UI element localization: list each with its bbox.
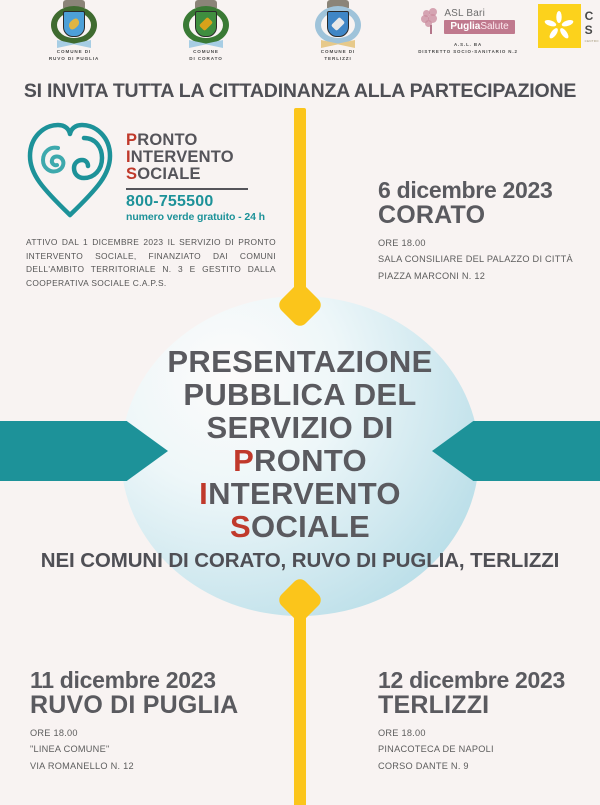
logo-comune-di-corato: COMUNE DI CORATO: [158, 0, 254, 63]
main-title-line-6: SOCIALE: [0, 510, 600, 543]
poster-canvas: COMUNE DI RUVO DI PUGLIA COMUNE DI CORAT…: [0, 0, 600, 805]
logo-caption-line2: RUVO DI PUGLIA: [49, 56, 99, 63]
logo-comune-terlizzi: COMUNE DI TERLIZZI: [290, 0, 386, 63]
brand-rest-intervento: NTERVENTO: [131, 148, 234, 166]
event-card-corato: 6 dicembre 2023 CORATO ORE 18.00 SALA CO…: [378, 178, 573, 284]
event-address: VIA ROMANELLO N. 12: [30, 758, 238, 774]
event-details: ORE 18.00 "LINEA COMUNE" VIA ROMANELLO N…: [30, 725, 238, 773]
service-description: ATTIVO DAL 1 DICEMBRE 2023 IL SERVIZIO D…: [26, 236, 276, 290]
toll-free-number[interactable]: 800-755500: [126, 194, 265, 210]
caps-subtitle: CENTRO AIUTO PSICO SOCIALE: [585, 39, 600, 43]
asl-name: ASL Bari: [444, 8, 514, 19]
tree-icon: [421, 8, 441, 34]
yellow-connector-bottom: [283, 583, 317, 805]
event-address: PIAZZA MARCONI N. 12: [378, 268, 573, 284]
event-time: ORE 18.00: [378, 725, 565, 741]
brand-line-sociale: SOCIALE: [126, 166, 265, 183]
brand-initial-s: S: [126, 165, 137, 183]
event-time: ORE 18.00: [378, 235, 573, 251]
event-date: 12 dicembre 2023: [378, 668, 565, 692]
asl-bari-logo: ASL Bari PugliaSalute: [421, 8, 514, 34]
event-venue: PINACOTECA DE NAPOLI: [378, 741, 565, 757]
brand-initial-p: P: [126, 131, 137, 149]
flower-icon: [544, 11, 574, 41]
pis-logo-icon: [24, 118, 116, 218]
yellow-stem: [294, 611, 306, 805]
event-details: ORE 18.00 SALA CONSILIARE DEL PALAZZO DI…: [378, 235, 573, 283]
logo-caption-line1: COMUNE: [189, 49, 222, 56]
main-title: PRESENTAZIONE PUBBLICA DEL SERVIZIO DI P…: [0, 345, 600, 543]
event-date: 11 dicembre 2023: [30, 668, 238, 692]
logo-asl-bari: ASL Bari PugliaSalute A.S.L. BA DISTRETT…: [408, 0, 528, 55]
main-title-line-5: INTERVENTO: [0, 477, 600, 510]
brand-line-pronto: PRONTO: [126, 132, 265, 149]
brand-line-intervento: INTERVENTO: [126, 149, 265, 166]
event-venue: SALA CONSILIARE DEL PALAZZO DI CITTÀ: [378, 251, 573, 267]
pronto-intervento-sociale-brand: PRONTO INTERVENTO SOCIALE 800-755500 num…: [24, 118, 265, 223]
subtitle-comuni: NEI COMUNI DI CORATO, RUVO DI PUGLIA, TE…: [0, 549, 600, 573]
main-title-initial-p: P: [233, 443, 254, 478]
brand-rest-pronto: RONTO: [137, 131, 197, 149]
coat-of-arms-icon: [44, 0, 104, 46]
event-card-ruvo-di-puglia: 11 dicembre 2023 RUVO DI PUGLIA ORE 18.0…: [30, 668, 238, 774]
event-city: RUVO DI PUGLIA: [30, 692, 238, 718]
asl-band-salute: Salute: [480, 21, 508, 32]
main-title-line-2: PUBBLICA DEL: [0, 378, 600, 411]
logo-caption-line2: DI CORATO: [189, 56, 222, 63]
brand-wordmark: PRONTO INTERVENTO SOCIALE: [126, 132, 265, 183]
event-address: CORSO DANTE N. 9: [378, 758, 565, 774]
main-title-line-4: PRONTO: [0, 444, 600, 477]
yellow-stem: [294, 108, 306, 303]
main-title-rest-sociale: OCIALE: [251, 509, 370, 544]
logo-caption-line2: TERLIZZI: [321, 56, 355, 63]
invite-headline: SI INVITA TUTTA LA CITTADINANZA ALLA PAR…: [0, 80, 600, 103]
event-details: ORE 18.00 PINACOTECA DE NAPOLI CORSO DAN…: [378, 725, 565, 773]
logo-caption: COMUNE DI RUVO DI PUGLIA: [49, 49, 99, 63]
logo-caption-line1: COMUNE DI: [49, 49, 99, 56]
asl-caption-line2: DISTRETTO SOCIO-SANITARIO N.2: [418, 49, 518, 56]
yellow-connector-top: [283, 108, 317, 343]
event-city: TERLIZZI: [378, 692, 565, 718]
coat-of-arms-icon: [308, 0, 368, 46]
caps-logo: C A P S CENTRO AIUTO PSICO SOCIALE: [538, 4, 600, 48]
asl-caption-line1: A.S.L. BA: [418, 42, 518, 49]
event-time: ORE 18.00: [30, 725, 238, 741]
main-title-rest-pronto: RONTO: [254, 443, 367, 478]
main-title-line-1: PRESENTAZIONE: [0, 345, 600, 378]
event-city: CORATO: [378, 202, 573, 228]
logo-caption: COMUNE DI CORATO: [189, 49, 222, 63]
toll-free-note: numero verde gratuito - 24 h: [126, 211, 265, 223]
yellow-diamond-icon: [276, 281, 324, 329]
main-title-rest-intervento: NTERVENTO: [208, 476, 401, 511]
main-title-initial-i: I: [199, 476, 208, 511]
asl-caption: A.S.L. BA DISTRETTO SOCIO-SANITARIO N.2: [418, 42, 518, 55]
caps-yellow-square: [538, 4, 581, 48]
logo-caption-line1: COMUNE DI: [321, 49, 355, 56]
event-card-terlizzi: 12 dicembre 2023 TERLIZZI ORE 18.00 PINA…: [378, 668, 565, 774]
brand-rest-sociale: OCIALE: [137, 165, 201, 183]
logo-caps: C A P S CENTRO AIUTO PSICO SOCIALE: [538, 0, 600, 48]
brand-divider: [126, 188, 248, 190]
main-title-line-3: SERVIZIO DI: [0, 411, 600, 444]
logo-caption: COMUNE DI TERLIZZI: [321, 49, 355, 63]
asl-band-puglia: Puglia: [450, 21, 480, 32]
header-logo-bar: COMUNE DI RUVO DI PUGLIA COMUNE DI CORAT…: [0, 0, 600, 72]
main-title-initial-s: S: [230, 509, 251, 544]
event-venue: "LINEA COMUNE": [30, 741, 238, 757]
asl-band: PugliaSalute: [444, 20, 514, 34]
caps-name: C A P S: [585, 9, 600, 37]
coat-of-arms-icon: [176, 0, 236, 46]
event-date: 6 dicembre 2023: [378, 178, 573, 202]
logo-comune-ruvo-di-puglia: COMUNE DI RUVO DI PUGLIA: [26, 0, 122, 63]
